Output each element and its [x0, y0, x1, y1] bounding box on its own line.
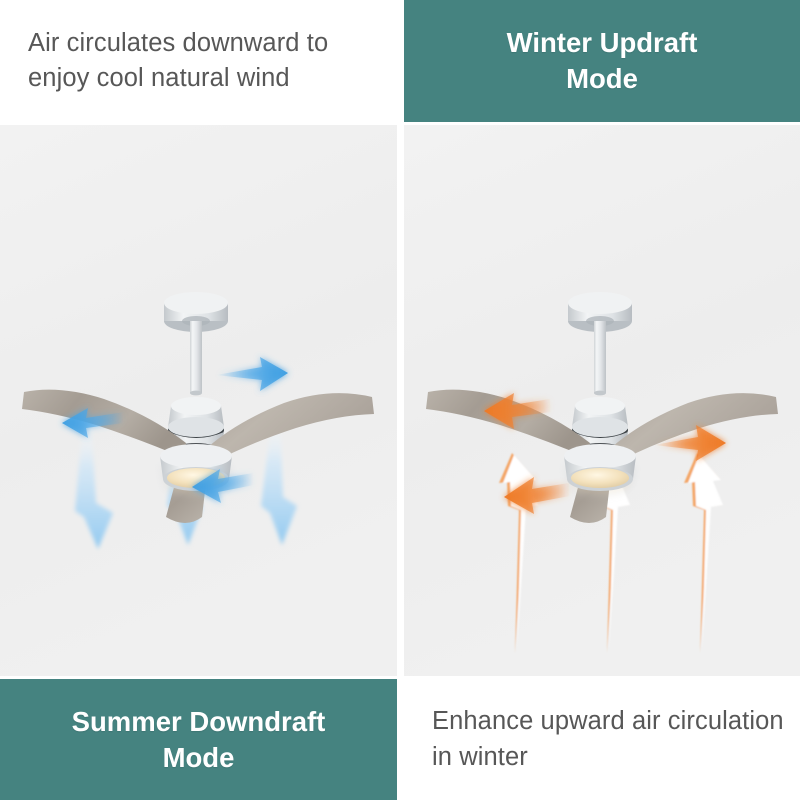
caption-panel-bottom-right: Enhance upward air circulation in winter — [404, 679, 800, 800]
fan-downrod — [190, 321, 202, 395]
gutter-horizontal-top — [0, 122, 800, 125]
caption-top-right-block: Winter Updraft Mode — [404, 25, 800, 97]
gutter-vertical — [397, 0, 404, 800]
caption-bottom-right-text: Enhance upward air circulation in winter — [404, 704, 800, 774]
fan-light-lens — [571, 468, 629, 488]
fan-illustration-updraft — [404, 125, 800, 676]
caption-panel-top-right: Winter Updraft Mode — [404, 0, 800, 122]
image-panel-summer-downdraft — [0, 125, 397, 676]
caption-top-left-text: Air circulates downward to enjoy cool na… — [0, 26, 397, 96]
caption-bottom-left-line2: Mode — [14, 740, 383, 776]
caption-top-right-line2: Mode — [418, 61, 786, 97]
gutter-horizontal-bottom — [0, 676, 800, 679]
caption-top-right-line1: Winter Updraft — [418, 25, 786, 61]
product-feature-graphic: Air circulates downward to enjoy cool na… — [0, 0, 800, 800]
caption-bottom-left-line1: Summer Downdraft — [14, 704, 383, 740]
fan-light-kit — [564, 444, 636, 491]
fan-downrod — [594, 321, 606, 395]
caption-panel-bottom-left: Summer Downdraft Mode — [0, 679, 397, 800]
caption-panel-top-left: Air circulates downward to enjoy cool na… — [0, 0, 397, 122]
caption-bottom-left-block: Summer Downdraft Mode — [0, 704, 397, 776]
fan-illustration-downdraft — [0, 125, 397, 676]
image-panel-winter-updraft — [404, 125, 800, 676]
